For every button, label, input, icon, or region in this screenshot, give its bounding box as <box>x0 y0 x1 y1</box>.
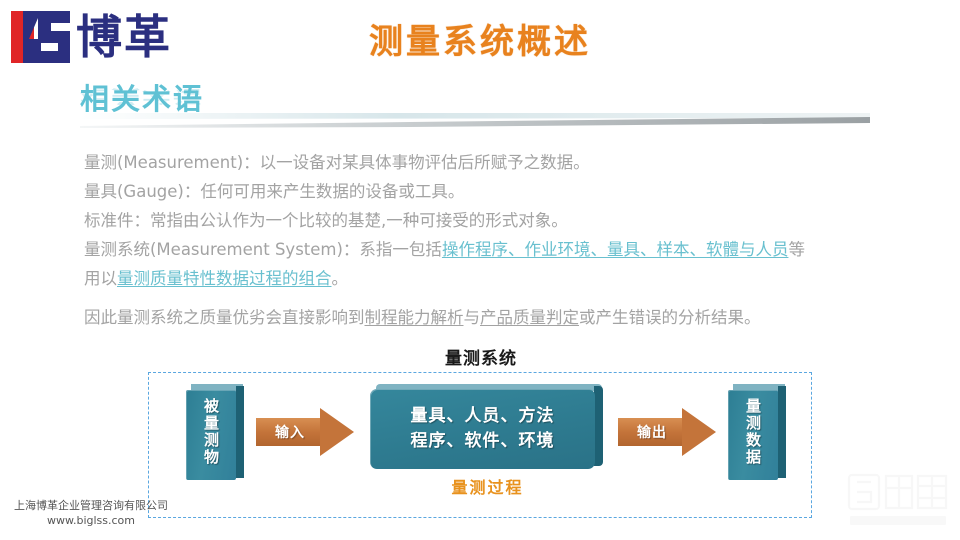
body-line-4: 量测系统(Measurement System)：系指一包括操作程序、作业环境、… <box>84 235 934 264</box>
footer-url: www.biglss.com <box>14 513 168 528</box>
footer: 上海博革企业管理咨询有限公司 www.biglss.com <box>14 498 168 528</box>
input-arrow-head <box>320 408 354 456</box>
left-box-side-face <box>236 386 244 478</box>
diagram-left-box: 被量测物 <box>186 384 242 480</box>
body-line-5-post: 。 <box>332 269 349 288</box>
body-line-3: 标准件：常指由公认作为一个比较的基楚,一种可接受的形式对象。 <box>84 206 934 235</box>
right-box-label: 量测数据 <box>728 384 778 480</box>
center-box-line-2: 程序、软件、环境 <box>411 429 555 454</box>
body-line-6: 因此量测系统之质量优劣会直接影响到制程能力解析与产品质量判定或产生错误的分析结果… <box>84 303 934 332</box>
diagram-center-box: 量具、人员、方法 程序、软件、环境 <box>370 384 605 469</box>
left-box-label: 被量测物 <box>186 384 236 480</box>
center-box-label: 量具、人员、方法 程序、软件、环境 <box>370 389 595 469</box>
body-line-6-underline-1: 制程能力解析 <box>365 308 464 327</box>
output-arrow-label: 输出 <box>618 418 686 446</box>
diagram-title: 量测系统 <box>148 344 814 369</box>
section-heading-block: 相关术语 相关术语 <box>80 76 940 138</box>
right-box-side-face <box>778 386 786 478</box>
body-line-6-mid: 与 <box>464 308 481 327</box>
body-line-6-underline-2: 产品质量判定 <box>480 308 579 327</box>
body-line-6-post: 或产生错误的分析结果。 <box>579 308 761 327</box>
diagram-arrow-output: 输出 <box>618 408 716 456</box>
paragraph-spacer <box>84 293 934 303</box>
body-line-6-pre: 因此量测系统之质量优劣会直接影响到 <box>84 308 365 327</box>
center-box-line-1: 量具、人员、方法 <box>411 404 555 429</box>
footer-company: 上海博革企业管理咨询有限公司 <box>14 499 168 512</box>
diagram-center-label: 量测过程 <box>370 474 605 498</box>
diagram-arrow-input: 输入 <box>256 408 354 456</box>
body-line-5-pre: 用以 <box>84 269 117 288</box>
body-line-4-highlight: 操作程序、作业环境、量具、样本、软體与人员 <box>442 240 789 259</box>
body-line-2: 量具(Gauge)：任何可用来产生数据的设备或工具。 <box>84 177 934 206</box>
page-title: 测量系统概述 <box>0 14 960 63</box>
body-line-5: 用以量测质量特性数据过程的组合。 <box>84 264 934 293</box>
body-line-4-pre: 量测系统(Measurement System)：系指一包括 <box>84 240 442 259</box>
watermark-logo-icon <box>846 470 950 532</box>
output-arrow-head <box>682 408 716 456</box>
measurement-system-diagram: 量测系统 被量测物 输入 量具、人员、方法 程序、软件、环境 量测过程 <box>148 344 814 524</box>
input-arrow-label: 输入 <box>256 418 324 446</box>
slide: 博革 测量系统概述 相关术语 相关术语 量测 <box>0 0 960 540</box>
body-line-4-post: 等 <box>788 240 805 259</box>
body-line-1: 量测(Measurement)：以一设备对某具体事物评估后所赋予之数据。 <box>84 148 934 177</box>
center-box-side-face <box>594 386 603 466</box>
diagram-right-box: 量测数据 <box>728 384 784 480</box>
body-paragraph: 量测(Measurement)：以一设备对某具体事物评估后所赋予之数据。 量具(… <box>84 148 934 332</box>
body-line-5-highlight: 量测质量特性数据过程的组合 <box>117 269 332 288</box>
section-title: 相关术语 <box>80 76 940 118</box>
